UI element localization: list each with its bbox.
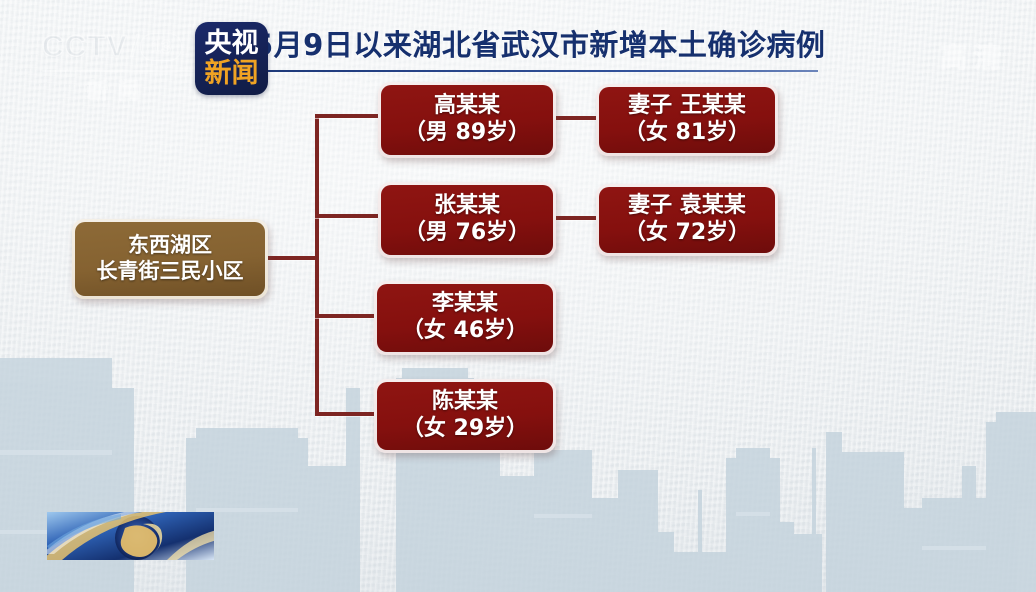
title-underline <box>253 70 818 72</box>
root-node-line1: 东西湖区 <box>128 233 212 259</box>
connector-branch-2 <box>315 214 383 218</box>
logo-line-xinwen: 新闻 <box>205 59 259 89</box>
case-4-detail: （女 29岁） <box>402 416 528 443</box>
tree-node-case-2[interactable]: 张某某 （男 76岁） <box>378 182 556 258</box>
spouse-2-detail: （女 72岁） <box>624 220 750 247</box>
tree-node-spouse-1[interactable]: 妻子 王某某 （女 81岁） <box>596 84 778 156</box>
spouse-1-name: 妻子 王某某 <box>628 93 746 120</box>
case-1-detail: （男 89岁） <box>404 120 530 147</box>
case-2-detail: （男 76岁） <box>404 220 530 247</box>
spouse-1-detail: （女 81岁） <box>624 120 750 147</box>
connector-branch-4 <box>315 412 377 416</box>
graphic-title-block: 5月9日以来湖北省武汉市新增本土确诊病例 <box>253 22 818 72</box>
tree-node-spouse-2[interactable]: 妻子 袁某某 （女 72岁） <box>596 184 778 256</box>
connector-branch-3 <box>315 314 377 318</box>
connector-spouse-1 <box>549 116 597 120</box>
case-1-name: 高某某 <box>434 93 500 120</box>
case-2-name: 张某某 <box>434 193 500 220</box>
connector-branch-1 <box>315 114 383 118</box>
connector-spouse-2 <box>549 216 597 220</box>
tree-node-case-4[interactable]: 陈某某 （女 29岁） <box>374 379 556 453</box>
connector-trunk-vertical <box>315 114 319 416</box>
tree-node-root[interactable]: 东西湖区 长青街三民小区 <box>72 219 268 299</box>
case-3-detail: （女 46岁） <box>402 318 528 345</box>
logo-line-yangshi: 央视 <box>205 29 259 59</box>
cctv-news-logo-badge: 央视 新闻 <box>195 22 268 95</box>
case-3-name: 李某某 <box>432 291 498 318</box>
page-title: 5月9日以来湖北省武汉市新增本土确诊病例 <box>253 22 818 64</box>
case-relationship-tree: 东西湖区 长青街三民小区 高某某 （男 89岁） 妻子 王某某 （女 81岁） … <box>0 0 1036 592</box>
root-node-line2: 长青街三民小区 <box>97 259 244 285</box>
tree-node-case-1[interactable]: 高某某 （男 89岁） <box>378 82 556 158</box>
connector-root-to-trunk <box>262 256 319 260</box>
spouse-2-name: 妻子 袁某某 <box>628 193 746 220</box>
case-4-name: 陈某某 <box>432 389 498 416</box>
broadcast-graphic-stage: CCTV / 13 新闻 高清 <box>0 0 1036 592</box>
tree-node-case-3[interactable]: 李某某 （女 46岁） <box>374 281 556 355</box>
